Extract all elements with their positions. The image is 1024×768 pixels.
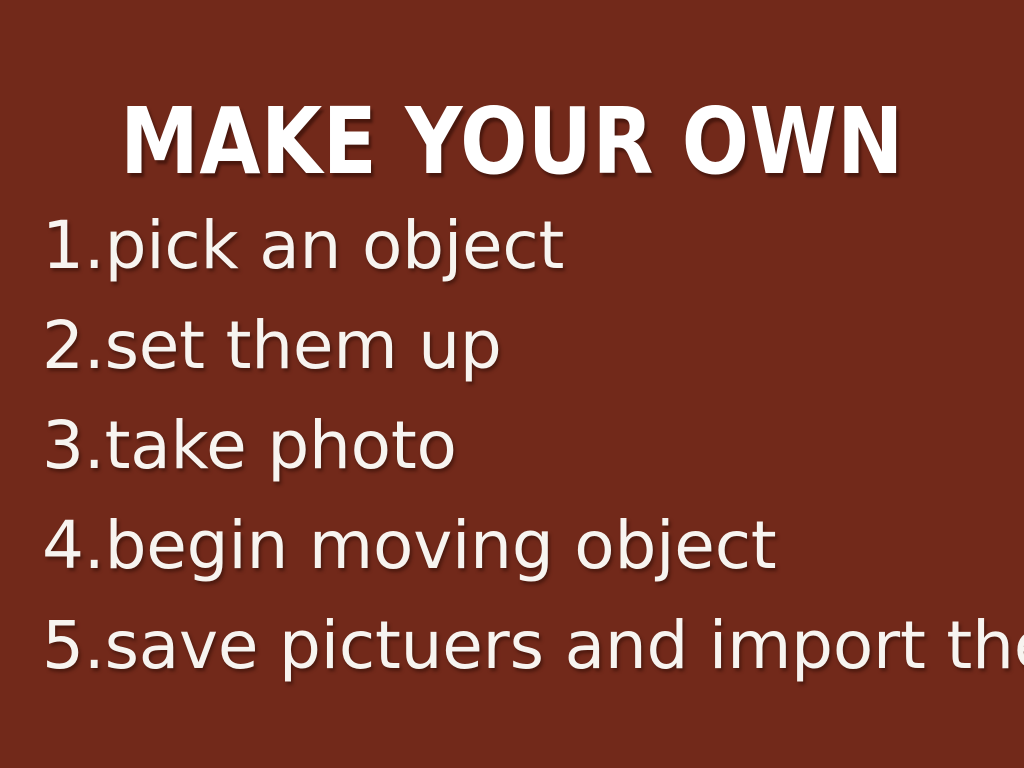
list-item: 4.begin moving object [42,496,1002,596]
step-text: pick an object [105,207,565,284]
slide-title: MAKE YOUR OWN [72,96,953,188]
numbered-step-list: 1.pick an object 2.set them up 3.take ph… [42,196,1002,696]
step-number: 1. [42,196,105,296]
step-number: 4. [42,496,105,596]
step-number: 5. [42,596,105,696]
list-item: 2.set them up [42,296,1002,396]
step-number: 2. [42,296,105,396]
step-text: begin moving object [105,507,777,584]
step-number: 3. [42,396,105,496]
list-item: 5.save pictuers and import them [42,596,1002,696]
list-item: 1.pick an object [42,196,1002,296]
list-item: 3.take photo [42,396,1002,496]
step-text: take photo [105,407,457,484]
step-text: set them up [105,307,502,384]
presentation-slide: MAKE YOUR OWN 1.pick an object 2.set the… [0,0,1024,768]
step-text: save pictuers and import them [105,607,1024,684]
